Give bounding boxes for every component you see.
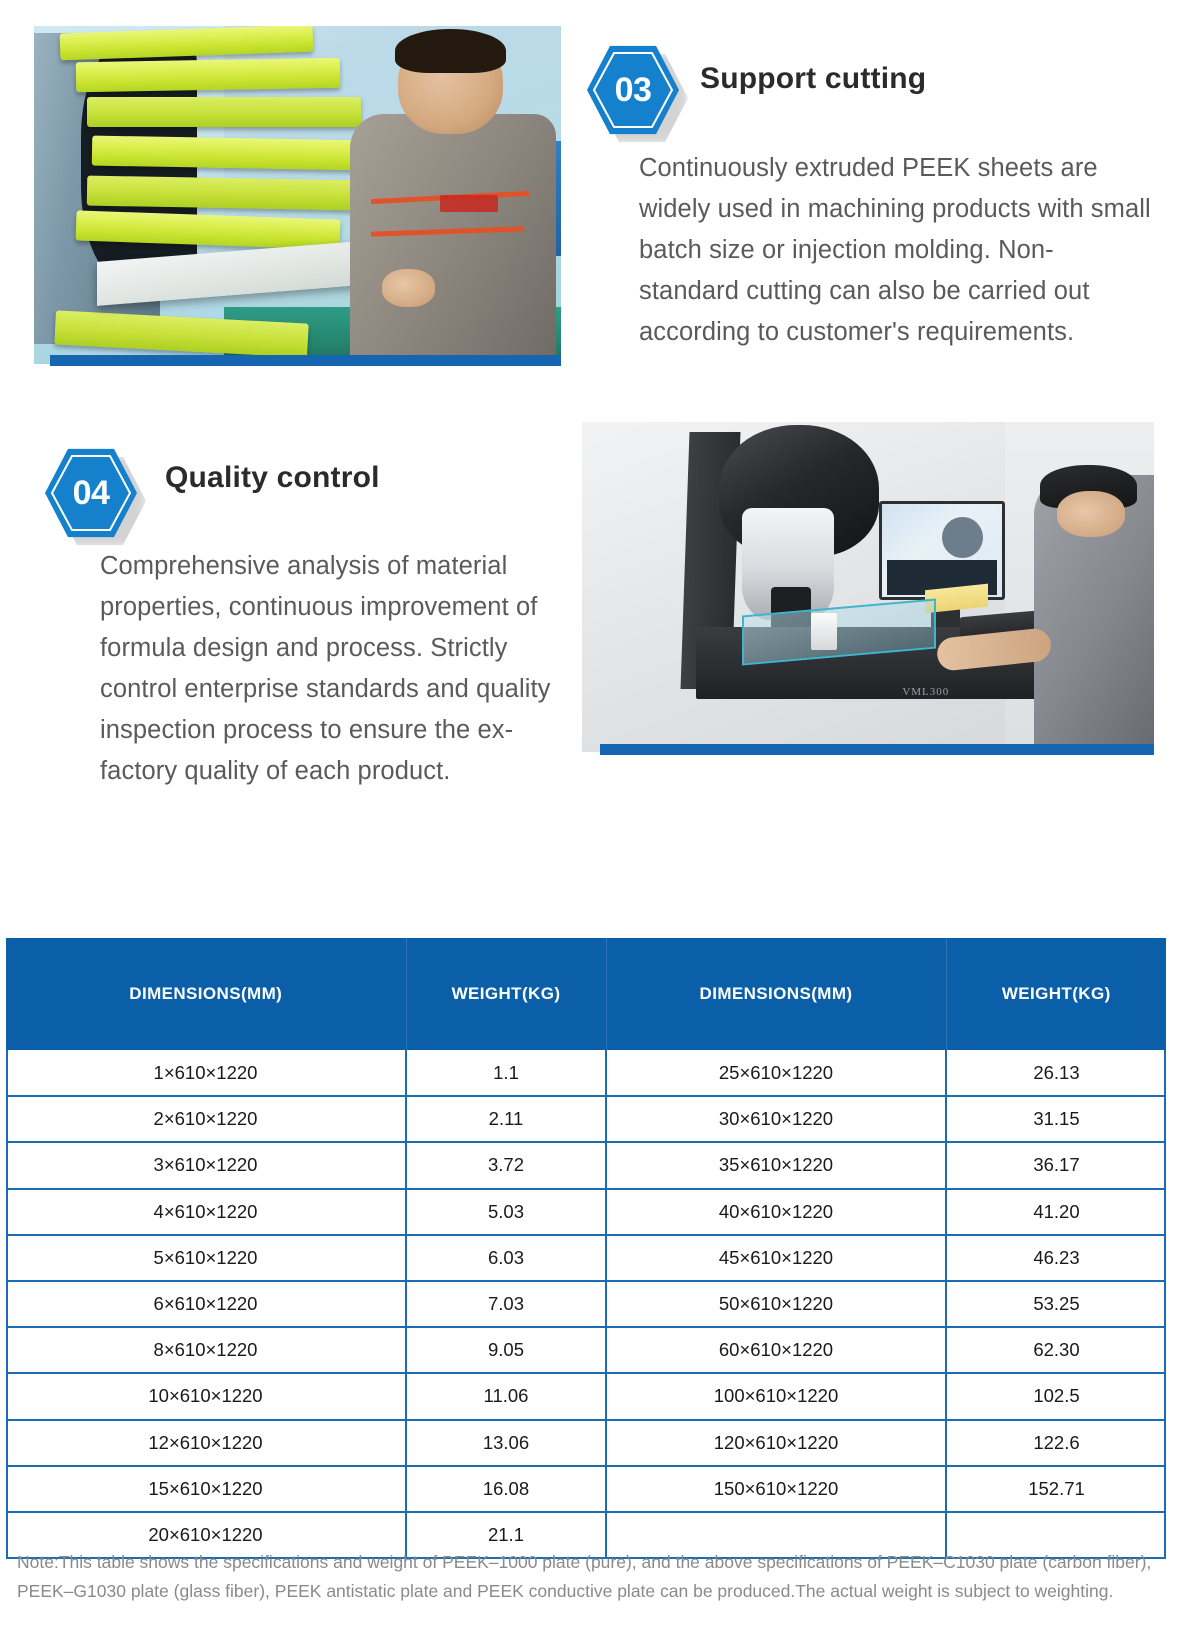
table-cell-c3: 60×610×1220 xyxy=(606,1327,946,1373)
table-note: Note:This table shows the specifications… xyxy=(17,1548,1187,1606)
table-cell-c3: 120×610×1220 xyxy=(606,1420,946,1466)
table-right-border xyxy=(1164,1050,1166,1558)
table-cell-c4: 36.17 xyxy=(946,1142,1166,1188)
spec-table-banner: Peek sheet specification table xyxy=(0,830,1200,930)
table-row: 1×610×12201.125×610×122026.13 xyxy=(6,1050,1166,1096)
section-badge-04: 04 xyxy=(45,447,137,539)
table-row: 12×610×122013.06120×610×1220122.6 xyxy=(6,1420,1166,1466)
table-row: 2×610×12202.1130×610×122031.15 xyxy=(6,1096,1166,1142)
table-cell-c1: 1×610×1220 xyxy=(6,1050,406,1096)
support-cutting-photo-accent-bar xyxy=(50,355,561,366)
table-cell-c2: 2.11 xyxy=(406,1096,606,1142)
table-row: 5×610×12206.0345×610×122046.23 xyxy=(6,1235,1166,1281)
table-cell-c2: 5.03 xyxy=(406,1189,606,1235)
table-cell-c2: 1.1 xyxy=(406,1050,606,1096)
col-header-weight-1: WEIGHT(KG) xyxy=(406,938,606,1050)
table-cell-c1: 6×610×1220 xyxy=(6,1281,406,1327)
table-cell-c3: 30×610×1220 xyxy=(606,1096,946,1142)
machine-model-label: VML300 xyxy=(902,686,949,698)
table-cell-c1: 15×610×1220 xyxy=(6,1466,406,1512)
table-cell-c3: 35×610×1220 xyxy=(606,1142,946,1188)
section-title-03: Support cutting xyxy=(700,62,926,96)
table-row: 3×610×12203.7235×610×122036.17 xyxy=(6,1142,1166,1188)
table-row: 15×610×122016.08150×610×1220152.71 xyxy=(6,1466,1166,1512)
spec-table: DIMENSIONS(MM) WEIGHT(KG) DIMENSIONS(MM)… xyxy=(6,938,1166,1559)
product-spec-page: 03 Support cutting Continuously extruded… xyxy=(0,0,1200,1628)
table-cell-c2: 9.05 xyxy=(406,1327,606,1373)
table-cell-c4: 122.6 xyxy=(946,1420,1166,1466)
table-cell-c3: 45×610×1220 xyxy=(606,1235,946,1281)
table-cell-c2: 6.03 xyxy=(406,1235,606,1281)
section-body-04: Comprehensive analysis of material prope… xyxy=(100,546,570,792)
table-row: 8×610×12209.0560×610×122062.30 xyxy=(6,1327,1166,1373)
table-header-row: DIMENSIONS(MM) WEIGHT(KG) DIMENSIONS(MM)… xyxy=(6,938,1166,1050)
support-cutting-photo xyxy=(34,26,561,364)
table-cell-c3: 50×610×1220 xyxy=(606,1281,946,1327)
section-body-03: Continuously extruded PEEK sheets are wi… xyxy=(639,148,1151,353)
table-row: 10×610×122011.06100×610×1220102.5 xyxy=(6,1373,1166,1419)
col-header-dimensions-2: DIMENSIONS(MM) xyxy=(606,938,946,1050)
table-note-line-1: Note:This table shows the specifications… xyxy=(17,1548,1187,1577)
table-cell-c4: 41.20 xyxy=(946,1189,1166,1235)
table-cell-c4: 152.71 xyxy=(946,1466,1166,1512)
table-cell-c2: 7.03 xyxy=(406,1281,606,1327)
table-cell-c2: 11.06 xyxy=(406,1373,606,1419)
table-row: 4×610×12205.0340×610×122041.20 xyxy=(6,1189,1166,1235)
table-row: 6×610×12207.0350×610×122053.25 xyxy=(6,1281,1166,1327)
col-header-weight-2: WEIGHT(KG) xyxy=(946,938,1166,1050)
table-cell-c4: 53.25 xyxy=(946,1281,1166,1327)
table-cell-c1: 4×610×1220 xyxy=(6,1189,406,1235)
table-cell-c1: 10×610×1220 xyxy=(6,1373,406,1419)
table-cell-c4: 62.30 xyxy=(946,1327,1166,1373)
section-badge-03: 03 xyxy=(587,44,679,136)
table-cell-c1: 12×610×1220 xyxy=(6,1420,406,1466)
table-cell-c2: 13.06 xyxy=(406,1420,606,1466)
section-number-04: 04 xyxy=(45,447,137,539)
table-cell-c4: 31.15 xyxy=(946,1096,1166,1142)
quality-control-photo-accent-bar xyxy=(600,744,1154,755)
section-title-04: Quality control xyxy=(165,461,380,495)
table-left-border xyxy=(6,1050,8,1558)
table-cell-c3: 40×610×1220 xyxy=(606,1189,946,1235)
table-cell-c1: 3×610×1220 xyxy=(6,1142,406,1188)
table-note-line-2: PEEK–G1030 plate (glass fiber), PEEK ant… xyxy=(17,1577,1187,1606)
table-cell-c3: 150×610×1220 xyxy=(606,1466,946,1512)
table-cell-c1: 2×610×1220 xyxy=(6,1096,406,1142)
table-cell-c4: 46.23 xyxy=(946,1235,1166,1281)
table-cell-c1: 5×610×1220 xyxy=(6,1235,406,1281)
table-cell-c4: 26.13 xyxy=(946,1050,1166,1096)
table-cell-c3: 25×610×1220 xyxy=(606,1050,946,1096)
table-cell-c3: 100×610×1220 xyxy=(606,1373,946,1419)
table-cell-c2: 16.08 xyxy=(406,1466,606,1512)
col-header-dimensions-1: DIMENSIONS(MM) xyxy=(6,938,406,1050)
table-cell-c2: 3.72 xyxy=(406,1142,606,1188)
table-cell-c1: 8×610×1220 xyxy=(6,1327,406,1373)
quality-control-photo: VML300 xyxy=(582,422,1154,752)
table-cell-c4: 102.5 xyxy=(946,1373,1166,1419)
section-number-03: 03 xyxy=(587,44,679,136)
